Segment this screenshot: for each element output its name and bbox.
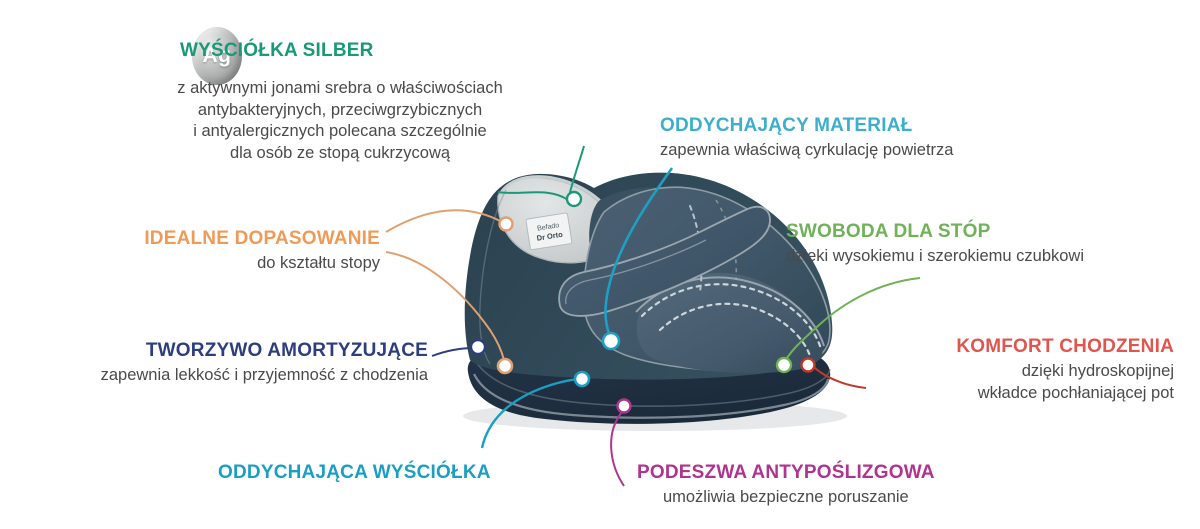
callout-line: do kształtu stopy <box>0 253 380 274</box>
callout-title-oddychajaca-wysciolka: ODDYCHAJĄCA WYŚCIÓŁKA <box>218 462 491 484</box>
callout-line: antybakteryjnych, przeciwgrzybicznych <box>110 100 570 121</box>
callout-line: zapewnia lekkość i przyjemność z chodzen… <box>0 365 428 386</box>
callout-body-oddychajacy-material: zapewnia właściwą cyrkulację powietrza <box>660 140 953 161</box>
callout-body-idealne-dopasowanie: do kształtu stopy <box>0 253 380 274</box>
callout-title-tworzywo-amortyzujace: TWORZYWO AMORTYZUJĄCE <box>0 340 428 362</box>
callout-wysciolka-silber: WYŚCIÓŁKA SILBER z aktywnymi jonami sreb… <box>110 40 570 164</box>
callout-body-podeszwa-antyposlizgowa: umożliwia bezpieczne poruszanie <box>637 487 935 508</box>
callout-oddychajacy-material: ODDYCHAJĄCY MATERIAŁ zapewnia właściwą c… <box>660 115 953 162</box>
callout-line: dzięki wysokiemu i szerokiemu czubkowi <box>786 246 1084 267</box>
callout-title-idealne-dopasowanie: IDEALNE DOPASOWANIE <box>0 228 380 250</box>
callout-line: umożliwia bezpieczne poruszanie <box>637 487 935 508</box>
callout-idealne-dopasowanie: IDEALNE DOPASOWANIE do kształtu stopy <box>0 228 380 275</box>
callout-title-oddychajacy-material: ODDYCHAJĄCY MATERIAŁ <box>660 115 953 137</box>
callout-title-swoboda-dla-stop: SWOBODA DLA STÓP <box>786 221 1084 243</box>
callout-body-komfort-chodzenia: dzięki hydroskopijnej wkładce pochłaniaj… <box>760 361 1174 404</box>
callout-podeszwa-antyposlizgowa: PODESZWA ANTYPOŚLIZGOWA umożliwia bezpie… <box>637 462 935 509</box>
shoe-brand-tag: Befado Dr Orto <box>526 213 572 250</box>
callout-line: dzięki hydroskopijnej <box>760 361 1174 382</box>
callout-line: wkładce pochłaniającej pot <box>760 383 1174 404</box>
callout-line: i antyalergicznych polecana szczególnie <box>110 121 570 142</box>
callout-line: dla osób ze stopą cukrzycową <box>110 143 570 164</box>
callout-tworzywo-amortyzujace: TWORZYWO AMORTYZUJĄCE zapewnia lekkość i… <box>0 340 428 387</box>
callout-title-komfort-chodzenia: KOMFORT CHODZENIA <box>760 336 1174 358</box>
callout-komfort-chodzenia: KOMFORT CHODZENIA dzięki hydroskopijnej … <box>760 336 1174 404</box>
infographic-canvas: Befado Dr Orto Ag <box>0 0 1200 529</box>
callout-title-podeszwa-antyposlizgowa: PODESZWA ANTYPOŚLIZGOWA <box>637 462 935 484</box>
callout-oddychajaca-wysciolka: ODDYCHAJĄCA WYŚCIÓŁKA <box>218 462 491 484</box>
callout-swoboda-dla-stop: SWOBODA DLA STÓP dzięki wysokiemu i szer… <box>786 221 1084 268</box>
callout-body-swoboda-dla-stop: dzięki wysokiemu i szerokiemu czubkowi <box>786 246 1084 267</box>
callout-title-wysciolka-silber: WYŚCIÓŁKA SILBER <box>110 40 570 62</box>
callout-line: zapewnia właściwą cyrkulację powietrza <box>660 140 953 161</box>
callout-line: z aktywnymi jonami srebra o właściwościa… <box>110 78 570 99</box>
callout-body-wysciolka-silber: z aktywnymi jonami srebra o właściwościa… <box>110 78 570 164</box>
callout-body-tworzywo-amortyzujace: zapewnia lekkość i przyjemność z chodzen… <box>0 365 428 386</box>
